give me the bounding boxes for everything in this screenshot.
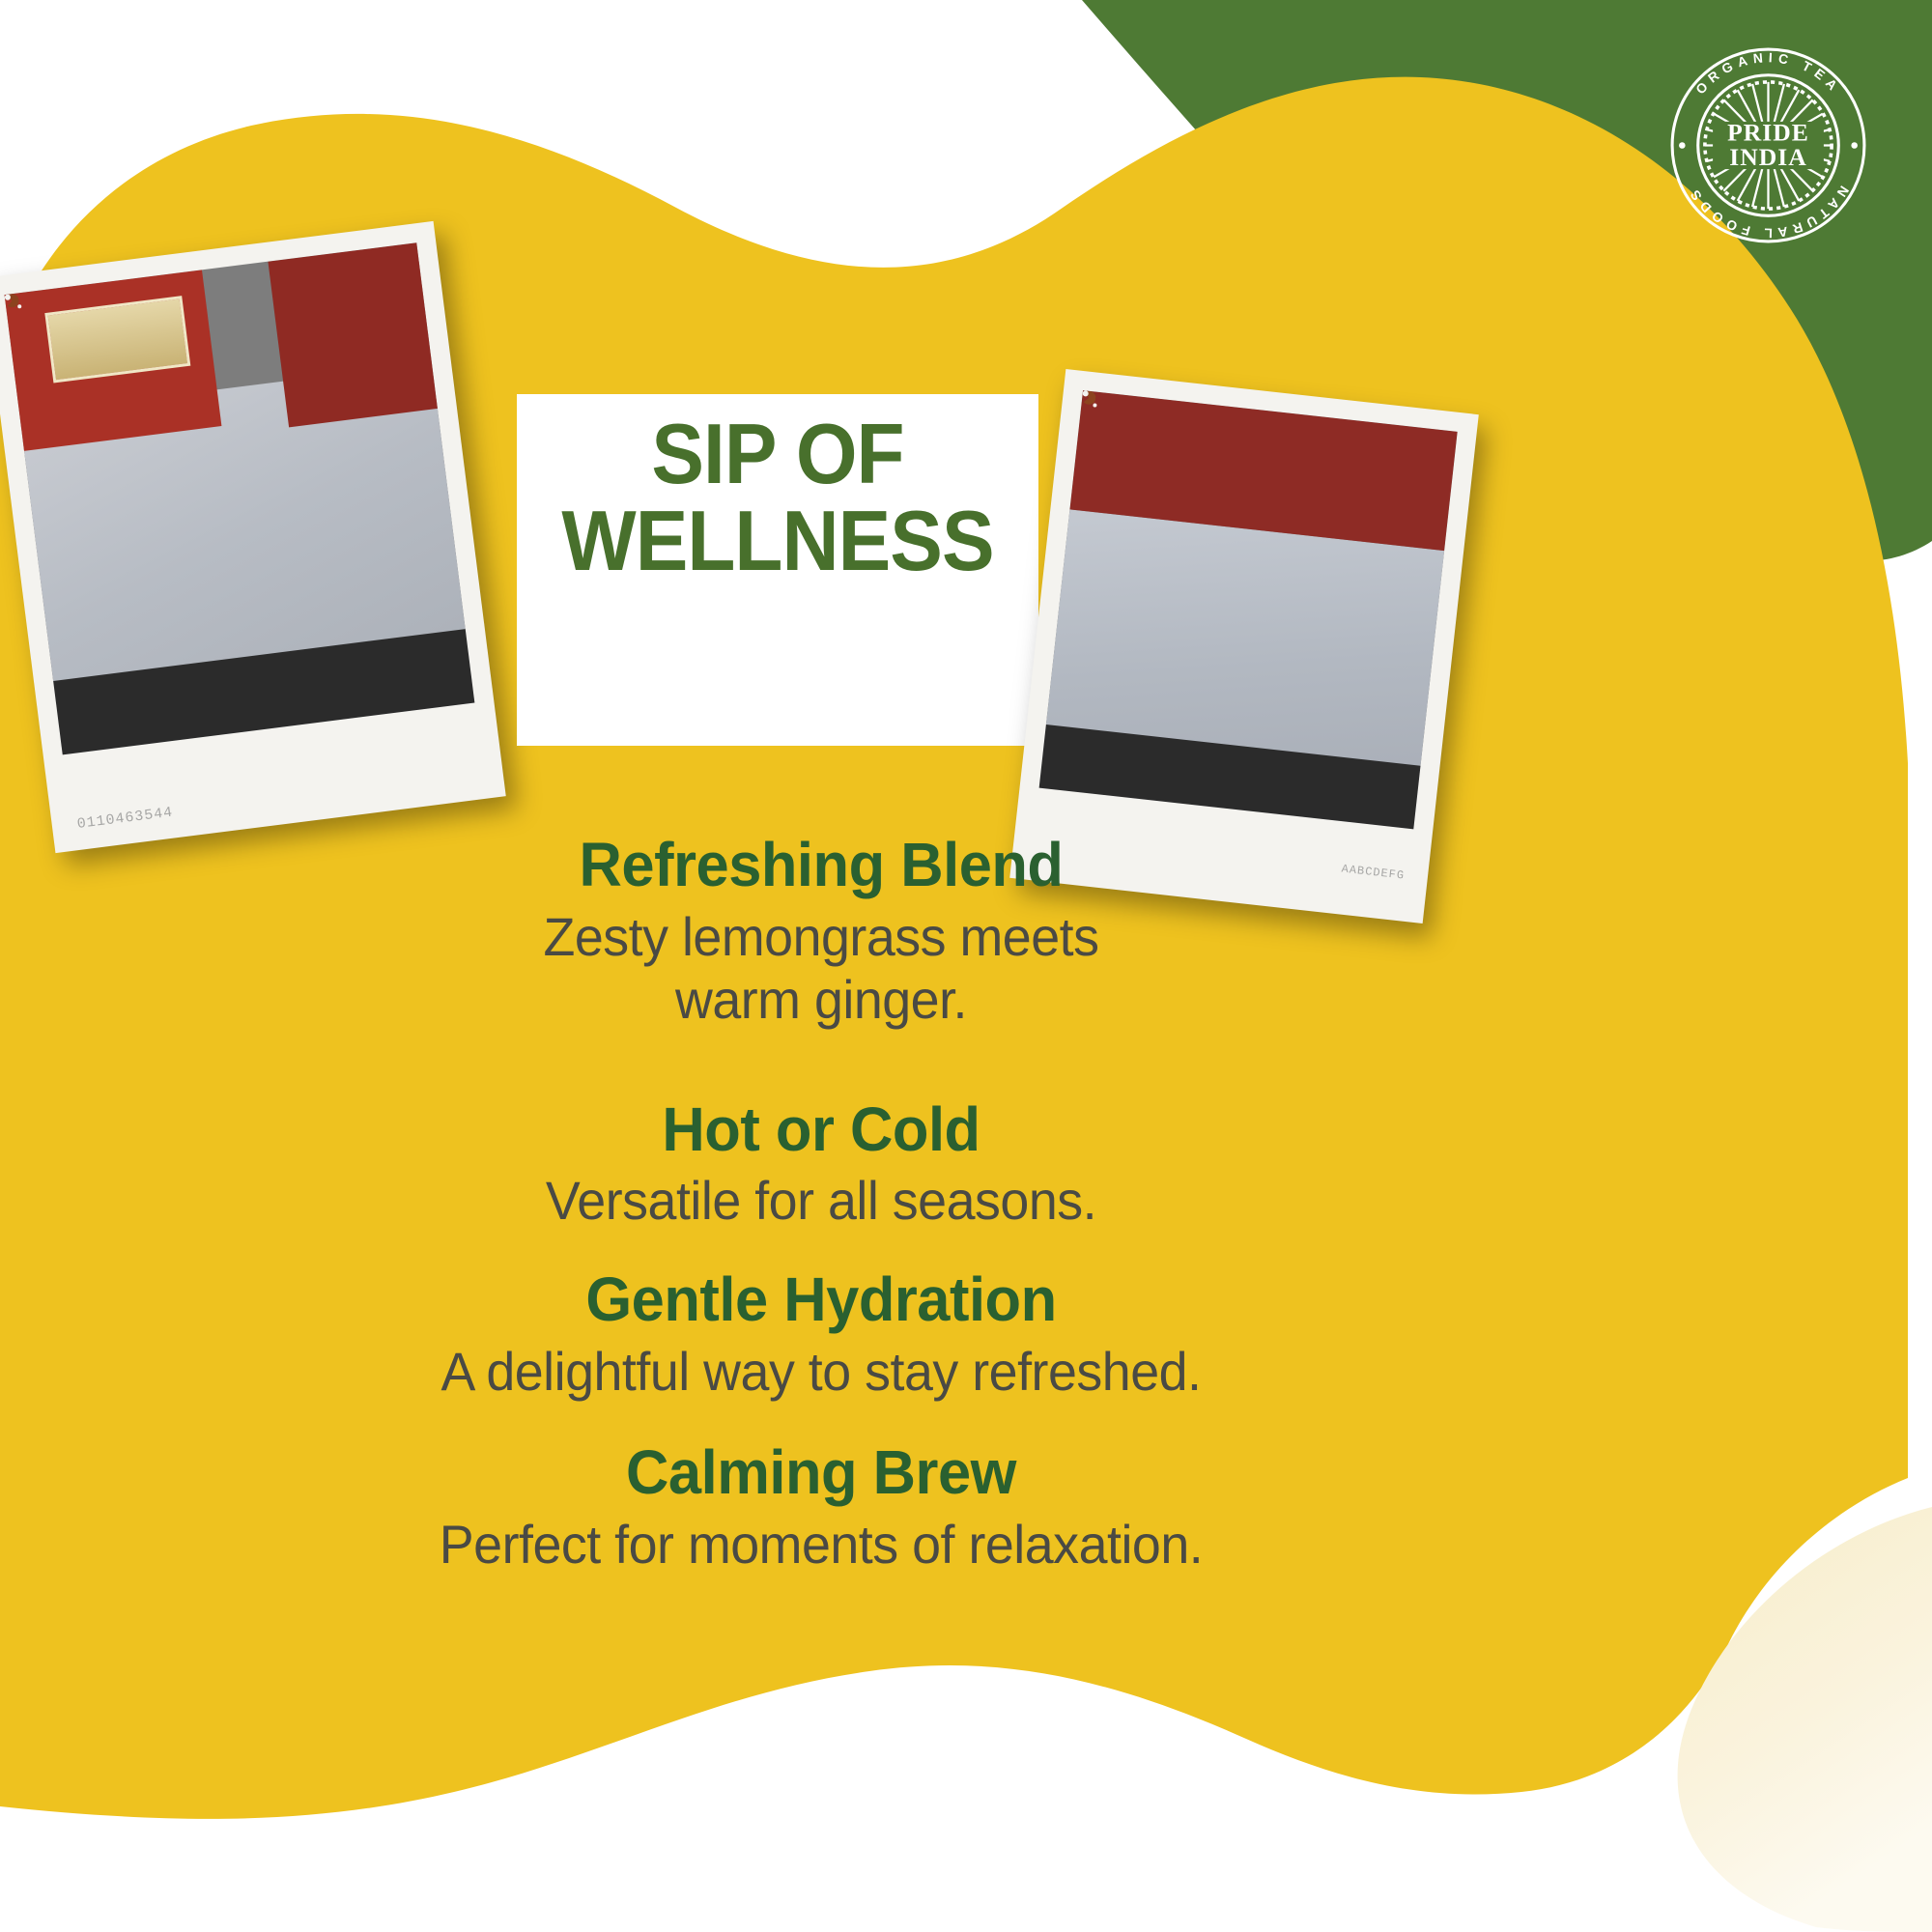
benefit-heading: Gentle Hydration (274, 1265, 1369, 1335)
logo-center-line-2: INDIA (1729, 143, 1807, 171)
benefit-item-hot-or-cold: Hot or Cold Versatile for all seasons. (251, 1095, 1391, 1234)
benefit-heading: Hot or Cold (274, 1095, 1369, 1165)
title-line-1: SIP OF (535, 411, 1020, 497)
page-title: SIP OF WELLNESS (535, 411, 1020, 584)
benefit-heading: Calming Brew (274, 1438, 1369, 1508)
benefits-list: Refreshing Blend Zesty lemongrass meets … (251, 831, 1391, 1614)
brand-logo: PRIDE INDIA ORGANIC TEA NATURAL FOODS (1669, 46, 1867, 244)
kitchen-scene-left (5, 242, 475, 754)
benefit-description-line-1: Zesty lemongrass meets (274, 906, 1369, 969)
benefit-item-refreshing-blend: Refreshing Blend Zesty lemongrass meets … (251, 831, 1391, 1032)
poster-canvas: PRIDE INDIA ORGANIC TEA NATURAL FOODS (0, 0, 1932, 1932)
title-line-2: WELLNESS (535, 497, 1020, 584)
benefit-description-line-1: Versatile for all seasons. (274, 1170, 1369, 1233)
photo-right (1039, 390, 1458, 829)
polaroid-left-code: 0110463544 (76, 805, 174, 833)
pride-india-seal-icon: PRIDE INDIA ORGANIC TEA NATURAL FOODS (1669, 46, 1867, 244)
benefit-heading: Refreshing Blend (274, 831, 1369, 900)
polaroid-left: 0110463544 (0, 221, 506, 853)
benefit-description-line-1: Perfect for moments of relaxation. (274, 1514, 1369, 1577)
benefit-description-line-1: A delightful way to stay refreshed. (274, 1341, 1369, 1404)
benefit-item-gentle-hydration: Gentle Hydration A delightful way to sta… (251, 1265, 1391, 1404)
kitchen-scene-right (1039, 390, 1458, 829)
photo-left (5, 242, 475, 754)
benefit-description-line-2: warm ginger. (274, 969, 1369, 1032)
benefit-item-calming-brew: Calming Brew Perfect for moments of rela… (251, 1438, 1391, 1577)
